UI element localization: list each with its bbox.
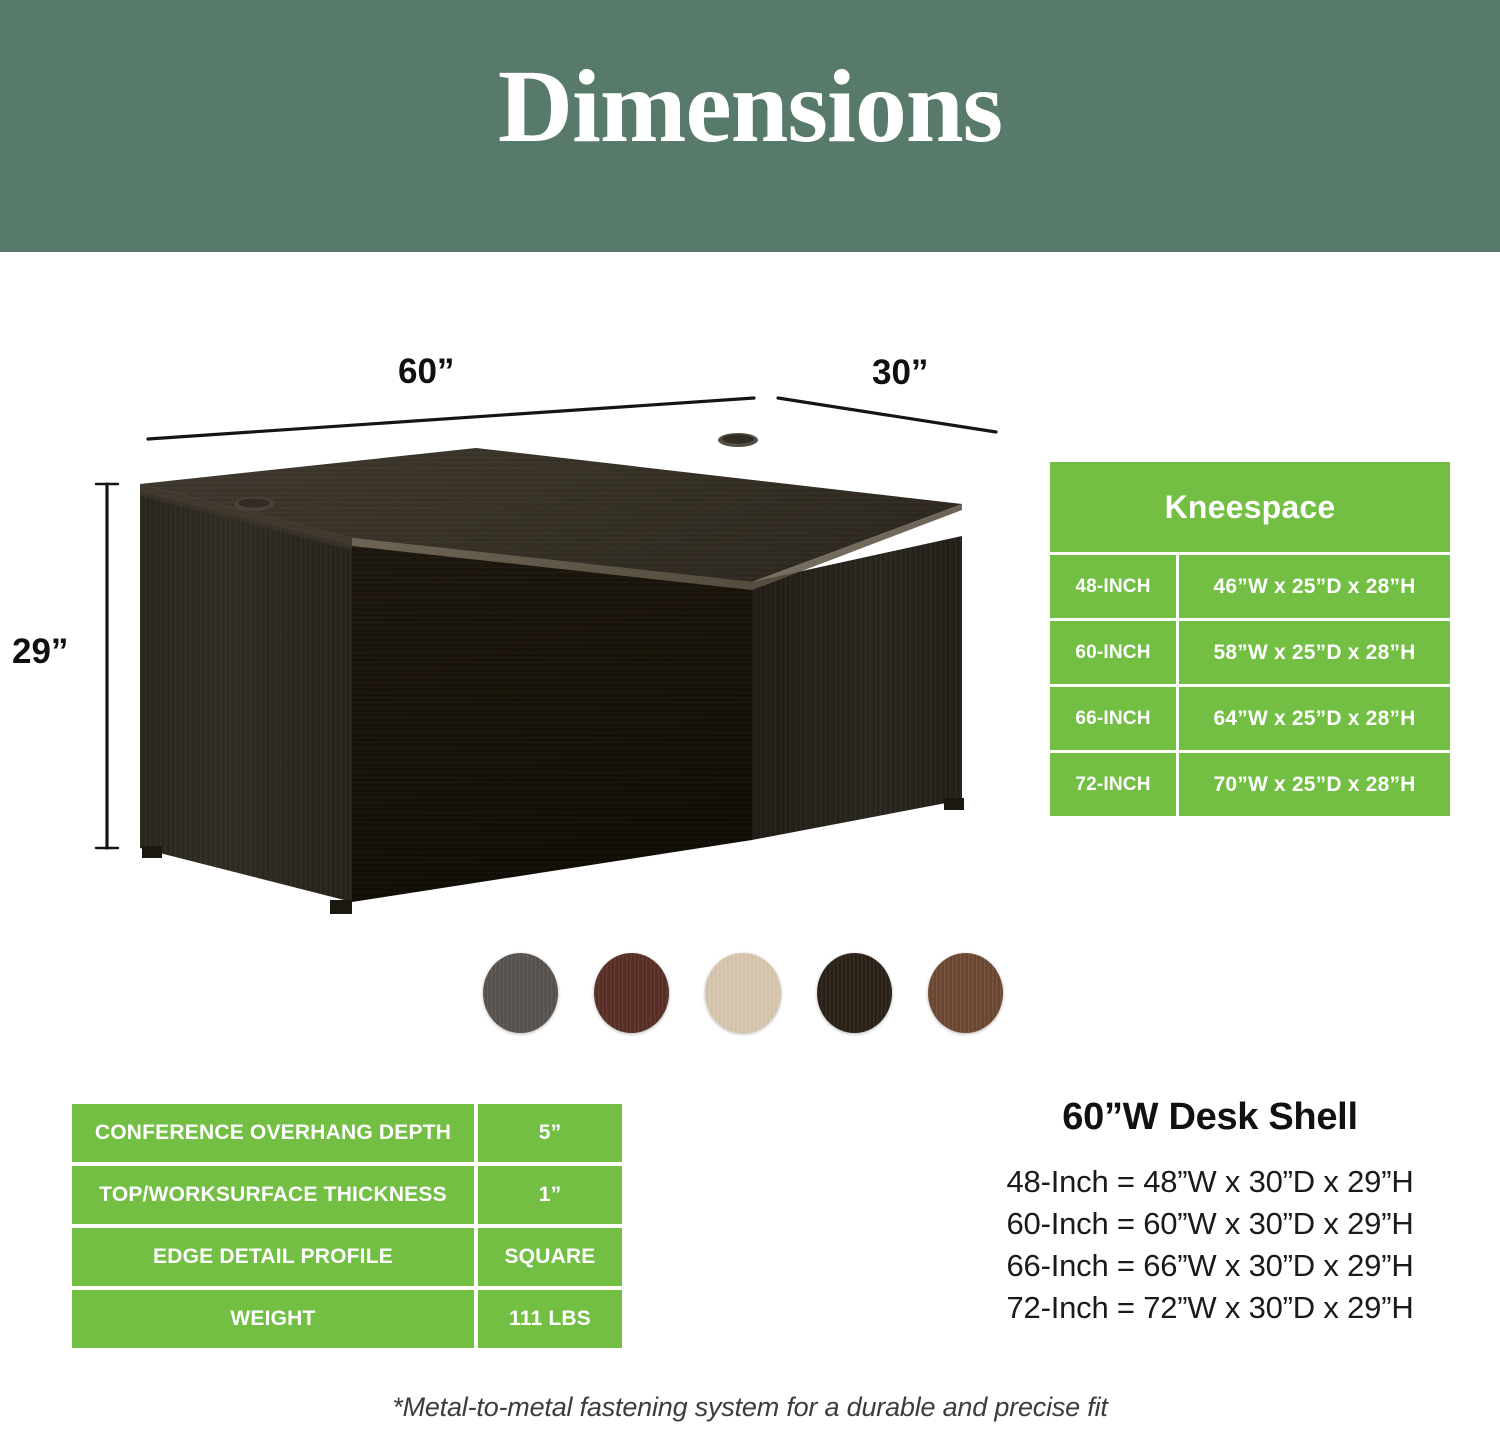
desk-body <box>140 433 964 914</box>
desk-shell-line-60: 60-Inch = 60”W x 30”D x 29”H <box>940 1203 1480 1245</box>
spec-value-edge: SQUARE <box>478 1224 622 1286</box>
finish-swatch-row <box>483 953 1003 1043</box>
kneespace-dims-60: 58”W x 25”D x 28”H <box>1179 618 1450 684</box>
table-row: 48-INCH 46”W x 25”D x 28”H <box>1050 552 1450 618</box>
kneespace-dims-72: 70”W x 25”D x 28”H <box>1179 750 1450 816</box>
desk-shell-line-66: 66-Inch = 66”W x 30”D x 29”H <box>940 1245 1480 1287</box>
gray-finish-swatch[interactable] <box>483 953 558 1033</box>
desk-shell-line-72: 72-Inch = 72”W x 30”D x 29”H <box>940 1287 1480 1329</box>
glide-front-left <box>330 900 352 914</box>
spec-value-overhang: 5” <box>478 1104 622 1162</box>
desk-illustration <box>0 252 1020 952</box>
table-row: 72-INCH 70”W x 25”D x 28”H <box>1050 750 1450 816</box>
page-title: Dimensions <box>0 52 1500 161</box>
depth-dimension-label: 30” <box>872 353 928 393</box>
desk-shell-spec-block: 60”W Desk Shell 48-Inch = 48”W x 30”D x … <box>940 1096 1480 1330</box>
maple-finish-swatch[interactable] <box>705 953 780 1033</box>
glide-back-left <box>142 846 162 858</box>
spec-value-weight: 111 LBS <box>478 1286 622 1348</box>
kneespace-title-row: Kneespace <box>1050 462 1450 552</box>
kneespace-size-66: 66-INCH <box>1050 684 1179 750</box>
glide-right <box>944 798 964 810</box>
kneespace-title: Kneespace <box>1050 462 1450 552</box>
specifications-table: CONFERENCE OVERHANG DEPTH 5” TOP/WORKSUR… <box>72 1104 622 1348</box>
spec-label-thickness: TOP/WORKSURFACE THICKNESS <box>72 1162 478 1224</box>
footnote-text: *Metal-to-metal fastening system for a d… <box>0 1392 1500 1423</box>
kneespace-dims-48: 46”W x 25”D x 28”H <box>1179 552 1450 618</box>
mahogany-finish-swatch[interactable] <box>594 953 669 1033</box>
kneespace-table: Kneespace 48-INCH 46”W x 25”D x 28”H 60-… <box>1050 462 1450 816</box>
table-row: WEIGHT 111 LBS <box>72 1286 622 1348</box>
table-row: EDGE DETAIL PROFILE SQUARE <box>72 1224 622 1286</box>
kneespace-size-60: 60-INCH <box>1050 618 1179 684</box>
spec-label-overhang: CONFERENCE OVERHANG DEPTH <box>72 1104 478 1162</box>
kneespace-size-48: 48-INCH <box>1050 552 1179 618</box>
spec-label-edge: EDGE DETAIL PROFILE <box>72 1224 478 1286</box>
table-row: TOP/WORKSURFACE THICKNESS 1” <box>72 1162 622 1224</box>
table-row: 60-INCH 58”W x 25”D x 28”H <box>1050 618 1450 684</box>
table-row: CONFERENCE OVERHANG DEPTH 5” <box>72 1104 622 1162</box>
spec-value-thickness: 1” <box>478 1162 622 1224</box>
espresso-finish-swatch[interactable] <box>817 953 892 1033</box>
height-dimension-label: 29” <box>12 632 68 672</box>
kneespace-size-72: 72-INCH <box>1050 750 1179 816</box>
walnut-finish-swatch[interactable] <box>928 953 1003 1033</box>
desk-shell-line-48: 48-Inch = 48”W x 30”D x 29”H <box>940 1161 1480 1203</box>
desk-shell-title: 60”W Desk Shell <box>940 1096 1480 1139</box>
spec-label-weight: WEIGHT <box>72 1286 478 1348</box>
width-dimension-label: 60” <box>398 352 454 392</box>
kneespace-dims-66: 64”W x 25”D x 28”H <box>1179 684 1450 750</box>
table-row: 66-INCH 64”W x 25”D x 28”H <box>1050 684 1450 750</box>
